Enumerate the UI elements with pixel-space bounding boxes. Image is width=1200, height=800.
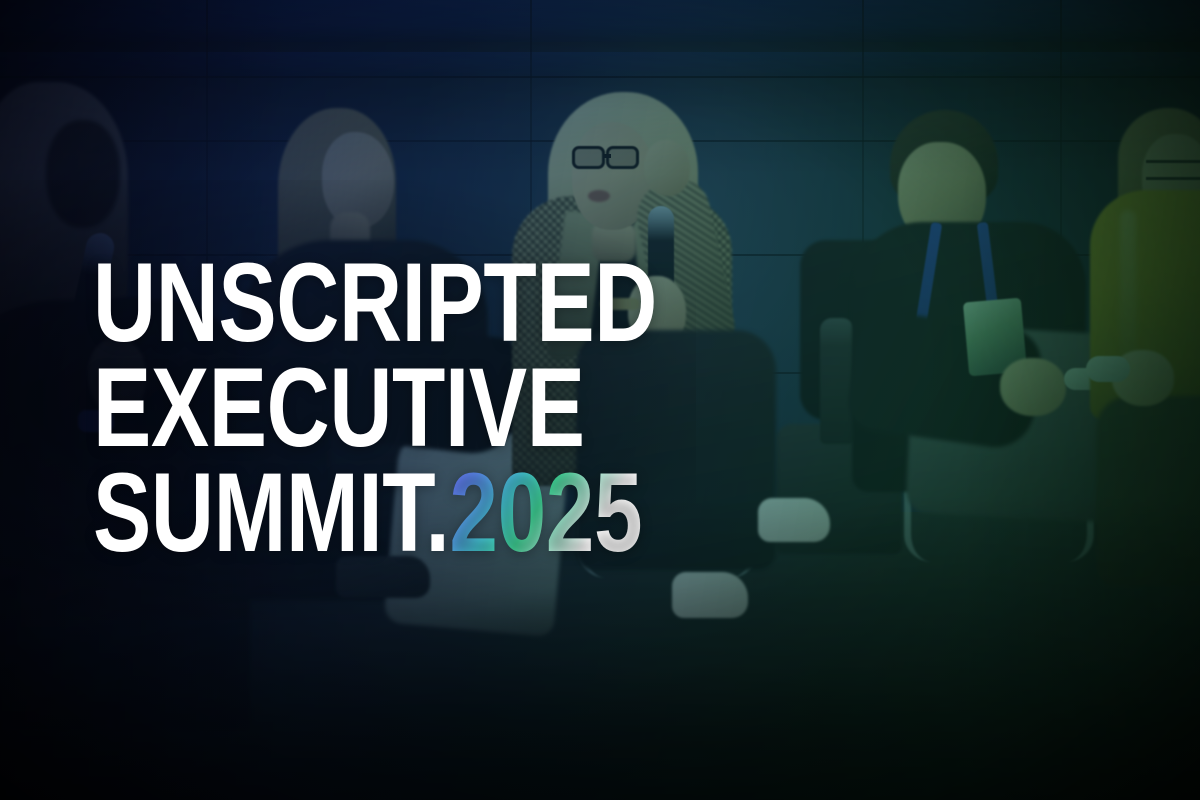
title-line-summit-year: SUMMIT.2025 [93, 460, 657, 565]
title-year: 2025 [449, 450, 642, 575]
event-hero-banner: UNSCRIPTED EXECUTIVE SUMMIT.2025 [0, 0, 1200, 800]
event-title-lockup: UNSCRIPTED EXECUTIVE SUMMIT.2025 [93, 250, 816, 565]
title-summit-word: SUMMIT. [93, 450, 449, 575]
title-line-unscripted: UNSCRIPTED [93, 250, 657, 355]
title-line-executive: EXECUTIVE [93, 355, 657, 460]
